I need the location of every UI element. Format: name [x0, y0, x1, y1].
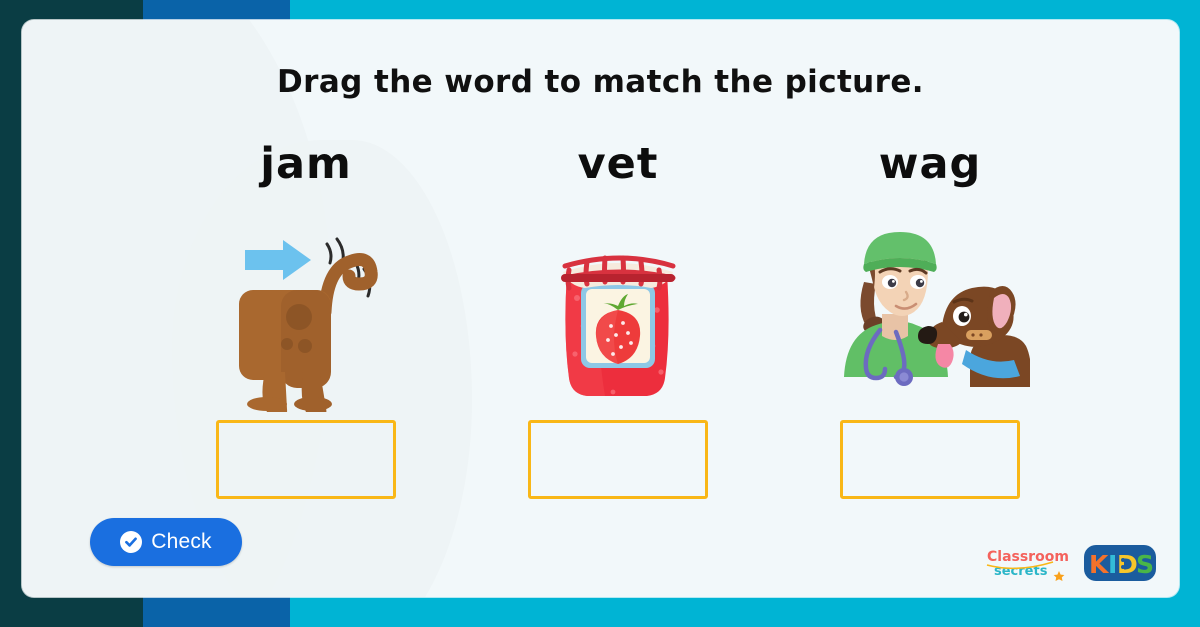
svg-text:D: D — [1117, 550, 1138, 579]
svg-text:I: I — [1108, 550, 1117, 579]
check-circle-icon — [120, 531, 142, 553]
check-button[interactable]: Check — [90, 518, 242, 566]
svg-text:Classroom: Classroom — [987, 549, 1069, 565]
vet-with-dog-icon — [780, 222, 1080, 412]
dropzone-2[interactable] — [528, 420, 708, 499]
activity-screen: Drag the word to match the picture. jam — [0, 0, 1200, 627]
activity-column-1: jam — [156, 135, 456, 499]
activity-column-2: vet — [468, 135, 768, 499]
strawberry-jam-jar-icon — [468, 222, 768, 412]
kids-badge: K I D S — [1083, 543, 1157, 583]
draggable-word-wag[interactable]: wag — [780, 135, 1080, 195]
check-button-label: Check — [151, 530, 212, 554]
dropzone-3[interactable] — [840, 420, 1020, 499]
dropzone-1[interactable] — [216, 420, 396, 499]
page-title: Drag the word to match the picture. — [22, 64, 1179, 100]
svg-text:S: S — [1136, 550, 1154, 579]
branding: Classroom secrets K I D S — [985, 543, 1157, 583]
dog-wagging-tail-icon — [156, 222, 456, 412]
svg-text:K: K — [1089, 550, 1110, 579]
activity-card: Drag the word to match the picture. jam — [22, 20, 1179, 597]
draggable-word-vet[interactable]: vet — [468, 135, 768, 195]
activity-column-3: wag — [780, 135, 1080, 499]
draggable-word-jam[interactable]: jam — [156, 135, 456, 195]
classroom-secrets-logo: Classroom secrets — [985, 545, 1071, 581]
